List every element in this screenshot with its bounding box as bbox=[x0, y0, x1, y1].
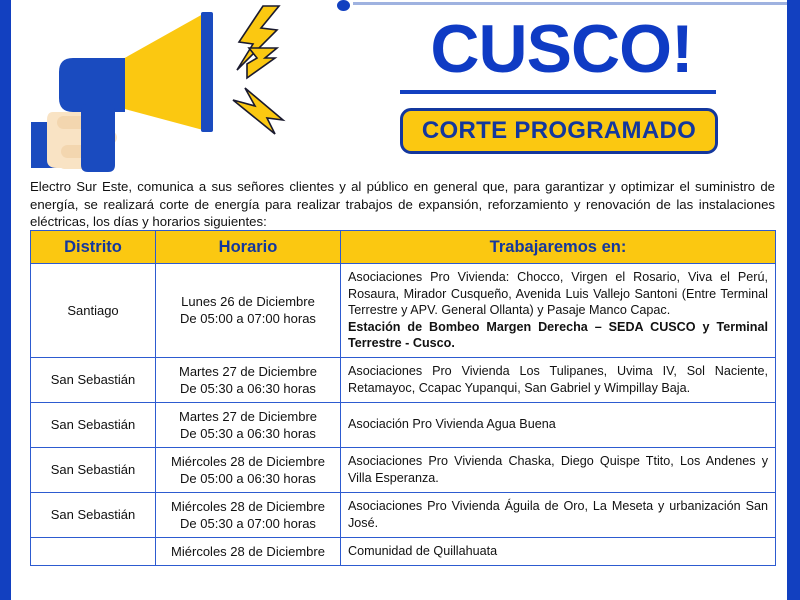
table-body: SantiagoLunes 26 de DiciembreDe 05:00 a … bbox=[31, 264, 776, 566]
trabajaremos-text: Asociaciones Pro Vivienda Los Tulipanes,… bbox=[348, 364, 768, 395]
trabajaremos-text: Asociaciones Pro Vivienda Águila de Oro,… bbox=[348, 499, 768, 530]
cell-trabajaremos: Comunidad de Quillahuata bbox=[341, 537, 776, 565]
horario-line-2: De 05:30 a 06:30 horas bbox=[163, 380, 333, 397]
horario-line-2: De 05:30 a 07:00 horas bbox=[163, 515, 333, 532]
cell-distrito: San Sebastián bbox=[31, 447, 156, 492]
horario-line-1: Martes 27 de Diciembre bbox=[163, 408, 333, 425]
cell-distrito: San Sebastián bbox=[31, 492, 156, 537]
horario-line-1: Miércoles 28 de Diciembre bbox=[163, 498, 333, 515]
horario-line-1: Martes 27 de Diciembre bbox=[163, 363, 333, 380]
horario-line-1: Miércoles 28 de Diciembre bbox=[163, 543, 333, 560]
intro-paragraph: Electro Sur Este, comunica a sus señores… bbox=[30, 178, 775, 231]
trabajaremos-text-bold: Estación de Bombeo Margen Derecha – SEDA… bbox=[348, 319, 768, 352]
table-row: Miércoles 28 de DiciembreComunidad de Qu… bbox=[31, 537, 776, 565]
table-row: San SebastiánMartes 27 de DiciembreDe 05… bbox=[31, 402, 776, 447]
table-row: San SebastiánMartes 27 de DiciembreDe 05… bbox=[31, 357, 776, 402]
status-badge: CORTE PROGRAMADO bbox=[400, 108, 718, 154]
table-row: San SebastiánMiércoles 28 de DiciembreDe… bbox=[31, 492, 776, 537]
cell-horario: Miércoles 28 de DiciembreDe 05:30 a 07:0… bbox=[156, 492, 341, 537]
cell-horario: Lunes 26 de DiciembreDe 05:00 a 07:00 ho… bbox=[156, 264, 341, 358]
horario-line-1: Miércoles 28 de Diciembre bbox=[163, 453, 333, 470]
poster-header: CUSCO! CORTE PROGRAMADO bbox=[11, 0, 787, 172]
cell-trabajaremos: Asociaciones Pro Vivienda Chaska, Diego … bbox=[341, 447, 776, 492]
cell-distrito: Santiago bbox=[31, 264, 156, 358]
horario-line-2: De 05:00 a 06:30 horas bbox=[163, 470, 333, 487]
schedule-table: Distrito Horario Trabajaremos en: Santia… bbox=[30, 230, 776, 566]
poster-page: CUSCO! CORTE PROGRAMADO Electro Sur Este… bbox=[0, 0, 800, 600]
table-header-row: Distrito Horario Trabajaremos en: bbox=[31, 231, 776, 264]
cell-distrito: San Sebastián bbox=[31, 357, 156, 402]
cell-trabajaremos: Asociaciones Pro Vivienda Los Tulipanes,… bbox=[341, 357, 776, 402]
trabajaremos-text: Asociaciones Pro Vivienda Chaska, Diego … bbox=[348, 454, 768, 485]
cell-distrito bbox=[31, 537, 156, 565]
right-blue-border bbox=[787, 0, 800, 600]
horario-line-2: De 05:00 a 07:00 horas bbox=[163, 310, 333, 327]
title-underline bbox=[400, 90, 716, 94]
cell-horario: Martes 27 de DiciembreDe 05:30 a 06:30 h… bbox=[156, 357, 341, 402]
trabajaremos-text: Asociaciones Pro Vivienda: Chocco, Virge… bbox=[348, 270, 768, 317]
horario-line-1: Lunes 26 de Diciembre bbox=[163, 293, 333, 310]
cell-trabajaremos: Asociaciones Pro Vivienda: Chocco, Virge… bbox=[341, 264, 776, 358]
megaphone-icon bbox=[31, 4, 361, 172]
column-header-distrito: Distrito bbox=[31, 231, 156, 264]
trabajaremos-text: Asociación Pro Vivienda Agua Buena bbox=[348, 417, 556, 431]
cell-trabajaremos: Asociación Pro Vivienda Agua Buena bbox=[341, 402, 776, 447]
trabajaremos-text: Comunidad de Quillahuata bbox=[348, 544, 497, 558]
column-header-trabajaremos: Trabajaremos en: bbox=[341, 231, 776, 264]
table-row: San SebastiánMiércoles 28 de DiciembreDe… bbox=[31, 447, 776, 492]
cell-trabajaremos: Asociaciones Pro Vivienda Águila de Oro,… bbox=[341, 492, 776, 537]
horario-line-2: De 05:30 a 06:30 horas bbox=[163, 425, 333, 442]
cell-horario: Miércoles 28 de Diciembre bbox=[156, 537, 341, 565]
page-title: CUSCO! bbox=[394, 12, 729, 86]
cell-horario: Martes 27 de DiciembreDe 05:30 a 06:30 h… bbox=[156, 402, 341, 447]
table-row: SantiagoLunes 26 de DiciembreDe 05:00 a … bbox=[31, 264, 776, 358]
cell-horario: Miércoles 28 de DiciembreDe 05:00 a 06:3… bbox=[156, 447, 341, 492]
left-blue-border bbox=[0, 0, 11, 600]
column-header-horario: Horario bbox=[156, 231, 341, 264]
cell-distrito: San Sebastián bbox=[31, 402, 156, 447]
